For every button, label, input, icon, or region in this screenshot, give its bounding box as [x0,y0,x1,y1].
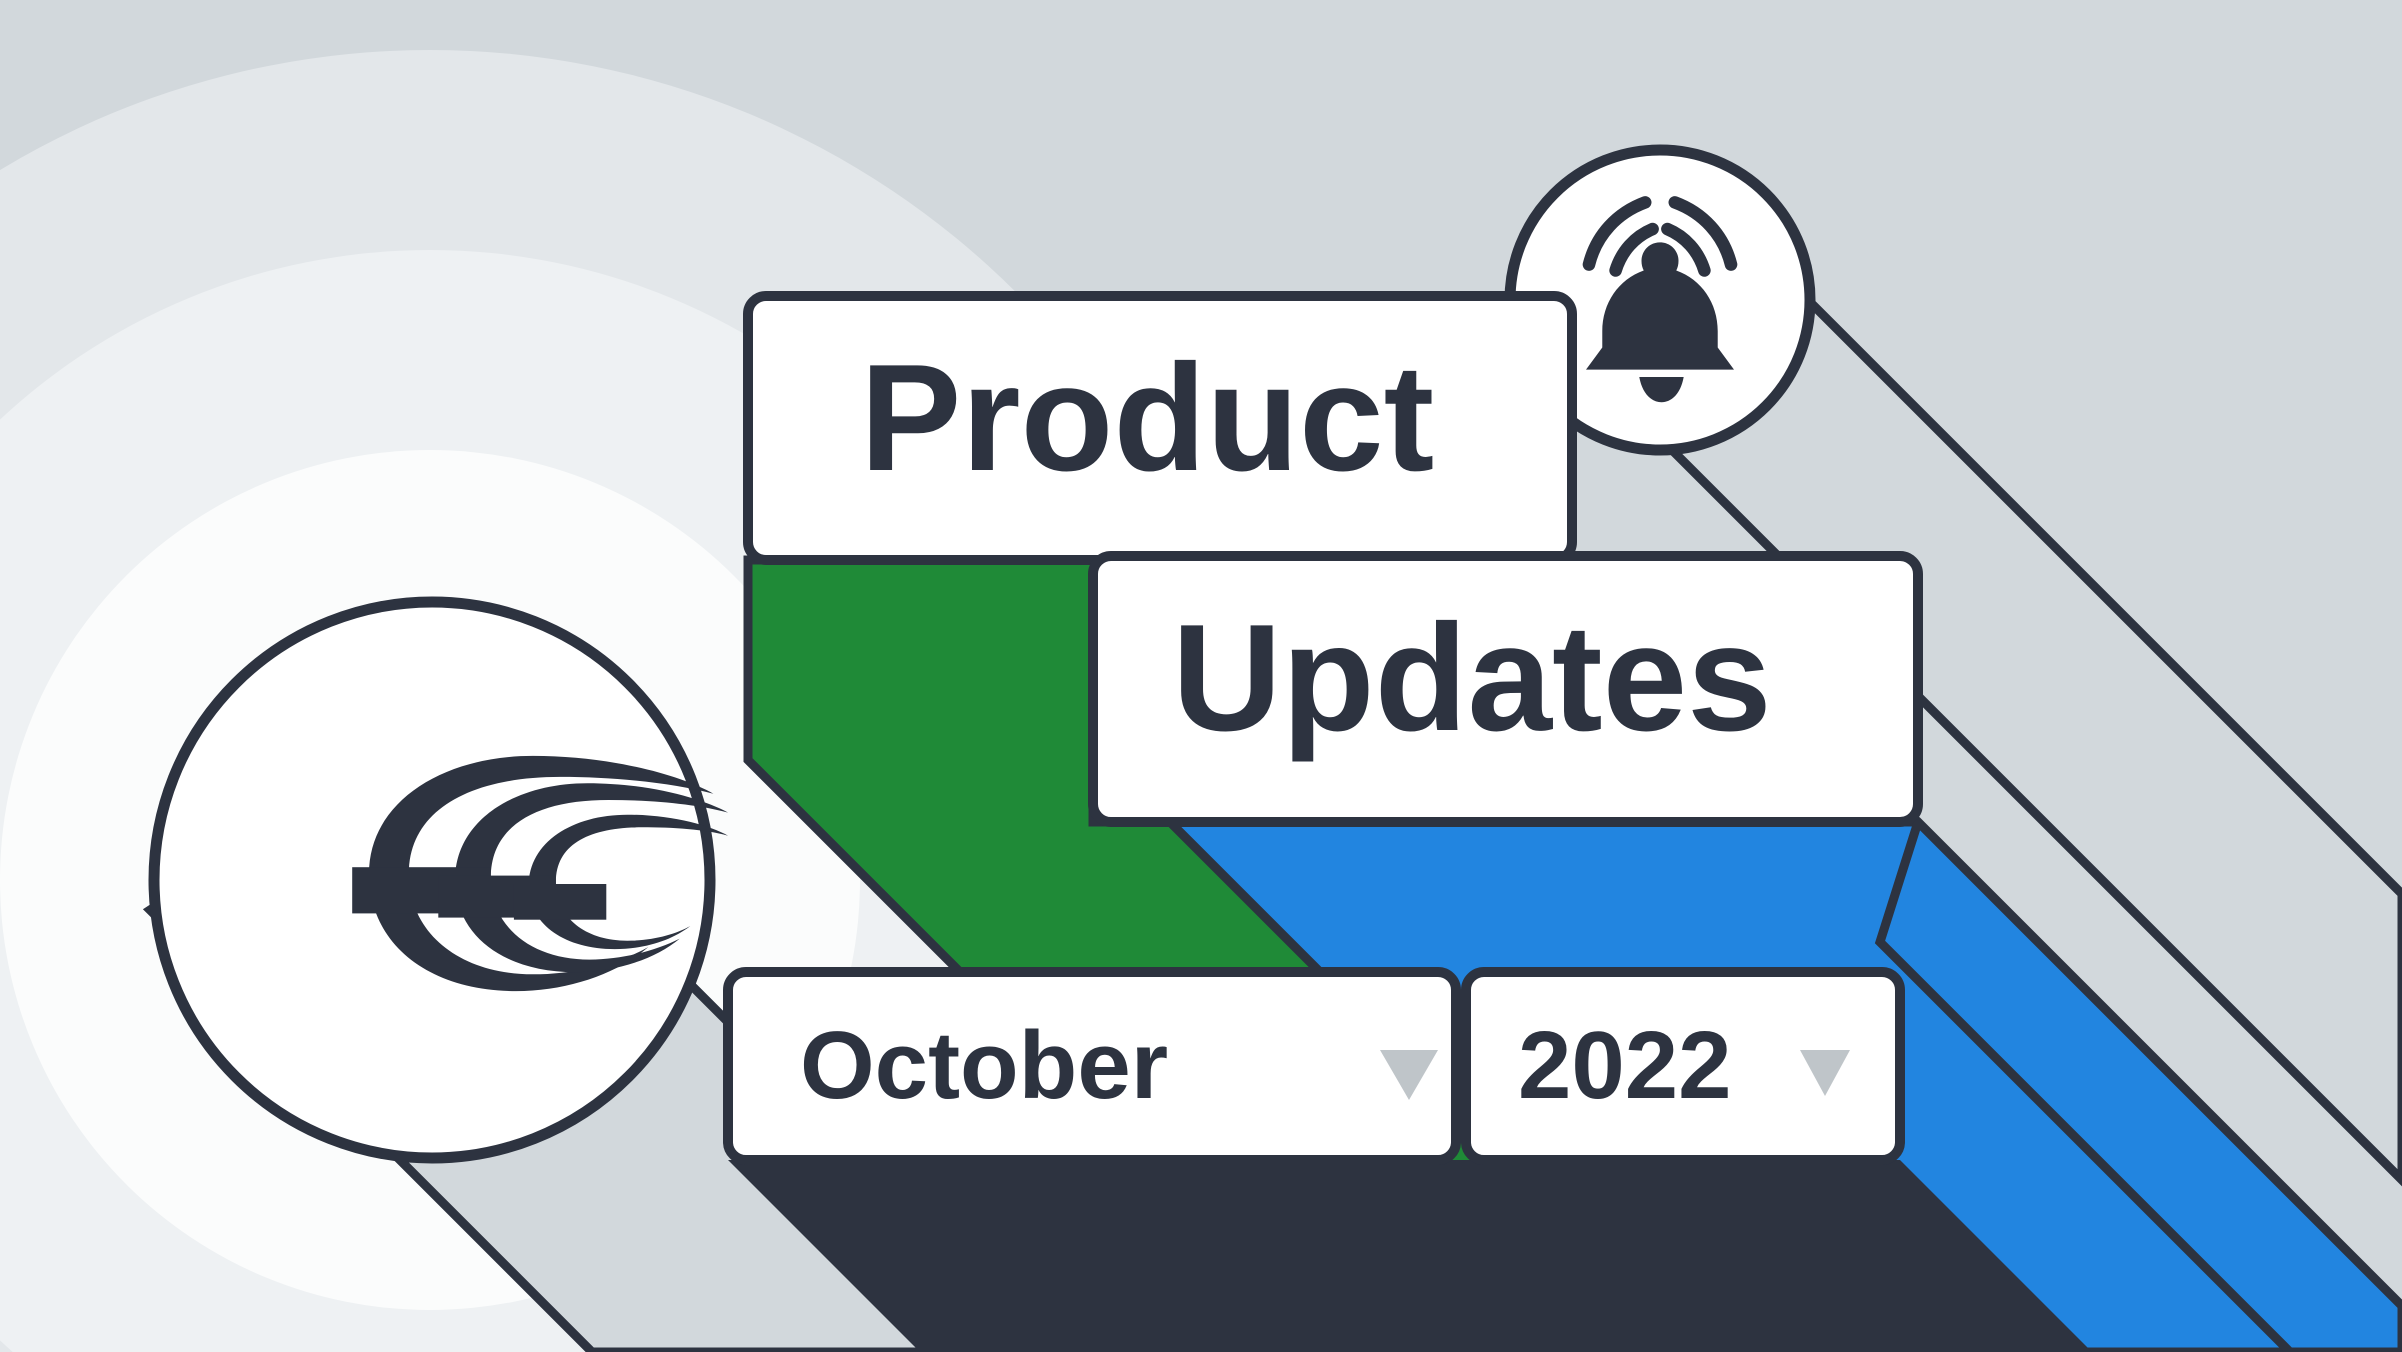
dropdown-shadow [728,1160,2092,1352]
product-updates-banner: Product Updates October 2022 [0,0,2402,1352]
bell-notification-hit[interactable] [1510,150,1810,450]
dropdown-month-hit[interactable] [728,972,1456,1160]
dropdown-year-hit[interactable] [1466,972,1900,1160]
brand-logo-hit[interactable] [154,602,710,1158]
card-updates-hit[interactable] [1093,556,1918,822]
card-product-hit[interactable] [748,296,1572,560]
